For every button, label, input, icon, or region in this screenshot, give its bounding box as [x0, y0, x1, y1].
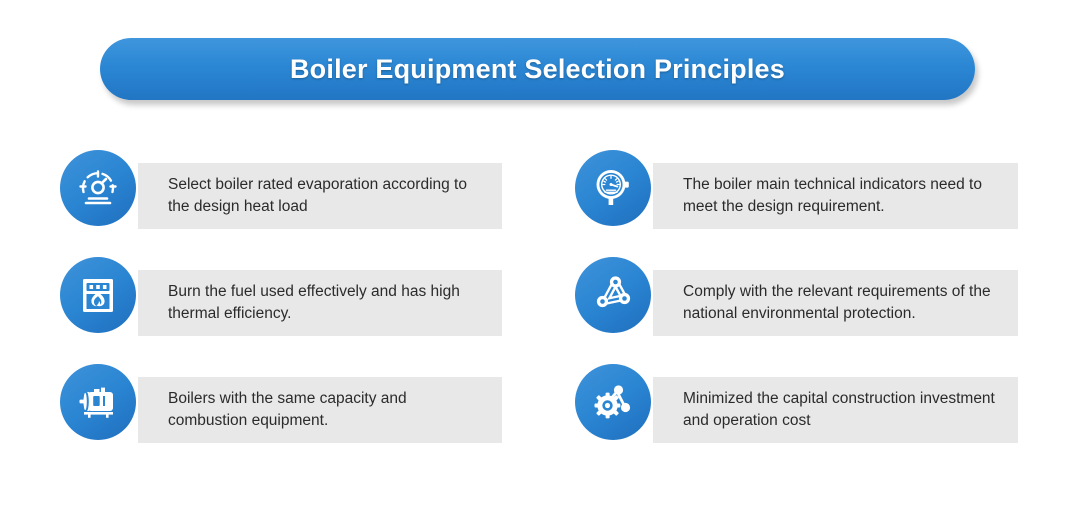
item-textbox: Select boiler rated evaporation accordin… — [138, 163, 502, 229]
list-item[interactable]: Comply with the relevant requirements of… — [575, 257, 1035, 349]
left-column: Select boiler rated evaporation accordin… — [60, 150, 520, 471]
list-item[interactable]: Burn the fuel used effectively and has h… — [60, 257, 520, 349]
list-item[interactable]: Minimized the capital construction inves… — [575, 364, 1035, 456]
right-column: The boiler main technical indicators nee… — [575, 150, 1035, 471]
item-label: Comply with the relevant requirements of… — [683, 281, 1004, 325]
title-banner-pill: Boiler Equipment Selection Principles — [100, 38, 975, 100]
linkage-network-icon — [591, 273, 635, 317]
icon-badge — [575, 257, 651, 333]
furnace-flame-icon — [77, 274, 119, 316]
icon-badge — [60, 257, 136, 333]
icon-badge — [60, 150, 136, 226]
list-item[interactable]: Select boiler rated evaporation accordin… — [60, 150, 520, 242]
page-title: Boiler Equipment Selection Principles — [290, 54, 785, 85]
item-label: The boiler main technical indicators nee… — [683, 174, 1004, 218]
title-banner: Boiler Equipment Selection Principles — [100, 38, 975, 100]
icon-badge — [575, 150, 651, 226]
item-textbox: Minimized the capital construction inves… — [653, 377, 1018, 443]
list-item[interactable]: Boilers with the same capacity and combu… — [60, 364, 520, 456]
item-label: Boilers with the same capacity and combu… — [168, 388, 488, 432]
item-label: Select boiler rated evaporation accordin… — [168, 174, 488, 218]
item-textbox: Boilers with the same capacity and combu… — [138, 377, 502, 443]
icon-badge — [60, 364, 136, 440]
icon-badge — [575, 364, 651, 440]
item-textbox: Comply with the relevant requirements of… — [653, 270, 1018, 336]
list-item[interactable]: The boiler main technical indicators nee… — [575, 150, 1035, 242]
item-label: Minimized the capital construction inves… — [683, 388, 1004, 432]
gauge-meter-icon — [76, 166, 120, 210]
item-textbox: The boiler main technical indicators nee… — [653, 163, 1018, 229]
boiler-vessel-icon — [75, 379, 121, 425]
item-textbox: Burn the fuel used effectively and has h… — [138, 270, 502, 336]
gear-network-icon — [590, 379, 636, 425]
pressure-gauge-icon — [590, 165, 636, 211]
item-label: Burn the fuel used effectively and has h… — [168, 281, 488, 325]
